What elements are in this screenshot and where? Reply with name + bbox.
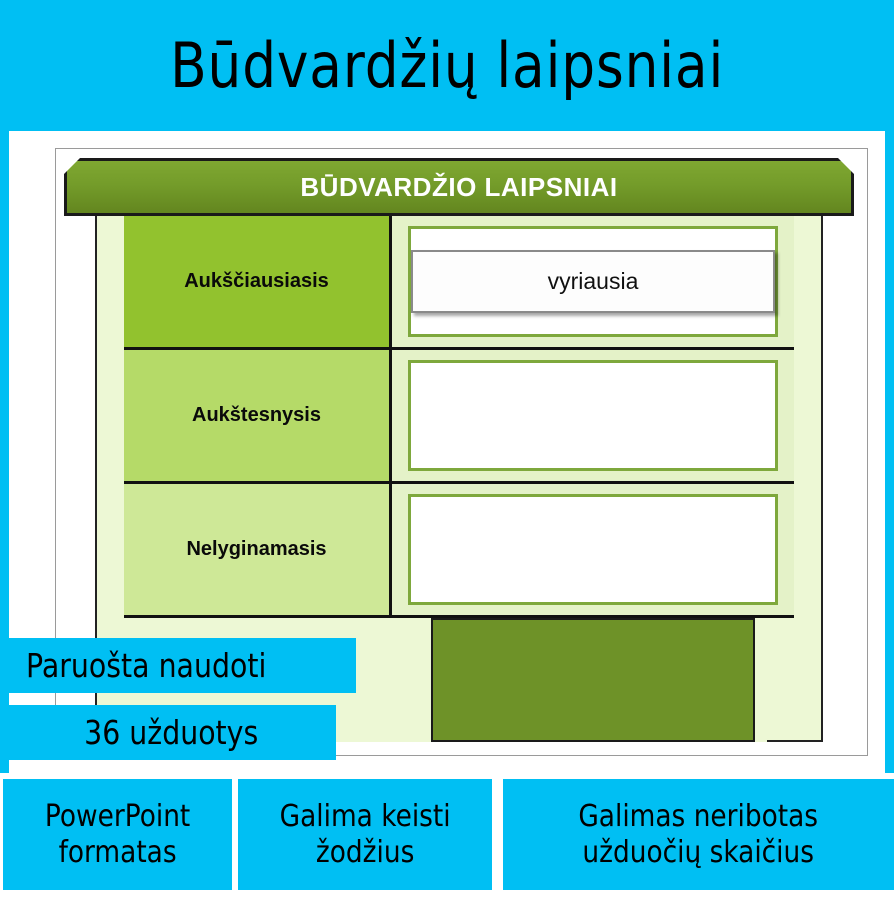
tag-task-count-label: 36 užduotys: [84, 716, 258, 749]
row-label-cell-superlative: Aukščiausiasis: [124, 216, 392, 347]
table-row: Aukštesnysis: [124, 350, 794, 484]
feature-unlimited-tasks: Galimas neribotas užduočių skaičius: [503, 779, 894, 890]
row-label-cell-positive: Nelyginamasis: [124, 484, 392, 615]
row-label-text: Aukštesnysis: [192, 404, 321, 427]
footer-green-panel[interactable]: [431, 618, 755, 742]
right-cyan-rail: [885, 131, 894, 773]
tag-ready-to-use: Paruošta naudoti: [6, 638, 356, 693]
row-label-text: Nelyginamasis: [186, 538, 326, 561]
footer-fill: [419, 618, 767, 742]
feature-line-1: Galimas neribotas: [579, 799, 819, 834]
row-answer-cell-comparative[interactable]: [392, 350, 794, 481]
table-gutter-right: [794, 216, 821, 740]
tag-task-count: 36 užduotys: [6, 705, 336, 760]
table-header-label: BŪDVARDŽIO LAIPSNIAI: [300, 172, 617, 203]
feature-banner-row: PowerPoint formatas Galima keisti žodžiu…: [0, 779, 894, 890]
row-label-text: Aukščiausiasis: [184, 270, 329, 293]
page-title: Būdvardžių laipsniai: [170, 35, 724, 97]
feature-powerpoint-format: PowerPoint formatas: [3, 779, 232, 890]
answer-box-empty[interactable]: [408, 360, 778, 471]
feature-line-1: PowerPoint: [45, 799, 190, 834]
table-header-ribbon: BŪDVARDŽIO LAIPSNIAI: [64, 158, 854, 216]
answer-box[interactable]: vyriausia: [408, 226, 778, 337]
feature-text: PowerPoint formatas: [45, 799, 190, 870]
row-answer-cell-superlative[interactable]: vyriausia: [392, 216, 794, 347]
table-row: Aukščiausiasis vyriausia: [124, 216, 794, 350]
feature-line-2: užduočių skaičius: [583, 835, 815, 870]
row-label-cell-comparative: Aukštesnysis: [124, 350, 392, 481]
answer-box-empty[interactable]: [408, 494, 778, 605]
feature-line-1: Galima keisti: [280, 799, 451, 834]
feature-line-2: formatas: [58, 835, 176, 870]
feature-text: Galima keisti žodžius: [280, 799, 451, 870]
tag-ready-label: Paruošta naudoti: [26, 649, 266, 682]
table-row: Nelyginamasis: [124, 484, 794, 618]
row-answer-cell-positive[interactable]: [392, 484, 794, 615]
feature-text: Galimas neribotas užduočių skaičius: [579, 799, 819, 870]
feature-line-2: žodžius: [316, 835, 414, 870]
title-banner: Būdvardžių laipsniai: [0, 0, 894, 131]
answer-word-chip[interactable]: vyriausia: [411, 250, 775, 313]
feature-editable-words: Galima keisti žodžius: [238, 779, 492, 890]
